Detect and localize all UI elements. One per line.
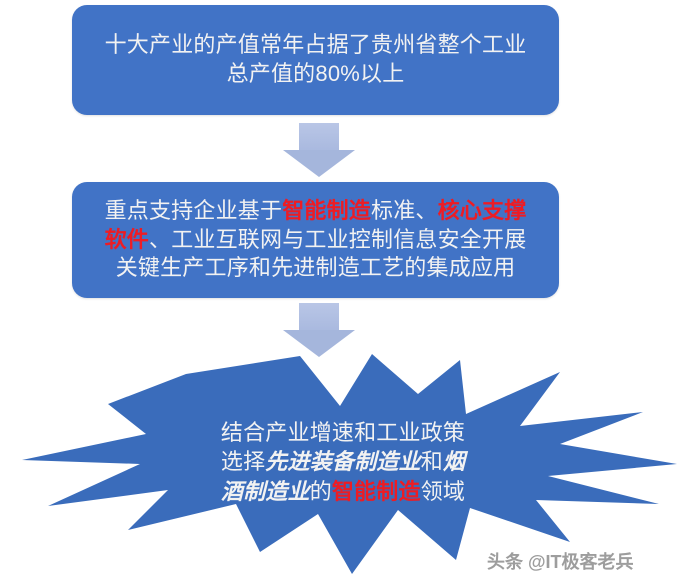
watermark-text: 头条 @IT极客老兵 [487, 548, 634, 574]
diagram-canvas: 十大产业的产值常年占据了贵州省整个工业 总产值的80%以上 重点支持企业基于智能… [0, 0, 677, 585]
down-arrow-icon-connector-1 [283, 123, 355, 178]
starburst-shape-step-3[interactable] [0, 352, 677, 577]
step-1-line-2-run-1: 总产值的80%以上 [227, 61, 405, 86]
starburst-polygon [22, 354, 677, 574]
arrow-shaft [299, 303, 339, 331]
step-2-line-1-run-1: 重点支持企业基于 [105, 198, 283, 223]
process-box-step-2[interactable]: 重点支持企业基于智能制造标准、核心支撑 软件、工业互联网与工业控制信息安全开展 … [72, 182, 559, 298]
step-2-text: 重点支持企业基于智能制造标准、核心支撑 软件、工业互联网与工业控制信息安全开展 … [72, 197, 559, 283]
step-1-line-1-run-1: 十大产业的产值常年占据了贵州省整个工业 [105, 32, 527, 57]
step-2-line-2-run-1: 软件 [105, 227, 149, 252]
process-box-step-1[interactable]: 十大产业的产值常年占据了贵州省整个工业 总产值的80%以上 [72, 5, 559, 115]
step-2-line-3-run-1: 关键生产工序和先进制造工艺的集成应用 [116, 255, 516, 280]
arrow-head [283, 150, 355, 177]
step-2-line-1-run-3: 标准、 [371, 198, 438, 223]
step-2-line-2-run-2: 、工业互联网与工业控制信息安全开展 [149, 227, 526, 252]
step-2-line-1-run-4: 核心支撑 [438, 198, 527, 223]
down-arrow-icon-connector-2 [283, 303, 355, 358]
step-1-text: 十大产业的产值常年占据了贵州省整个工业 总产值的80%以上 [72, 31, 559, 88]
step-2-line-1-run-2: 智能制造 [282, 198, 371, 223]
arrow-shaft [299, 123, 339, 151]
